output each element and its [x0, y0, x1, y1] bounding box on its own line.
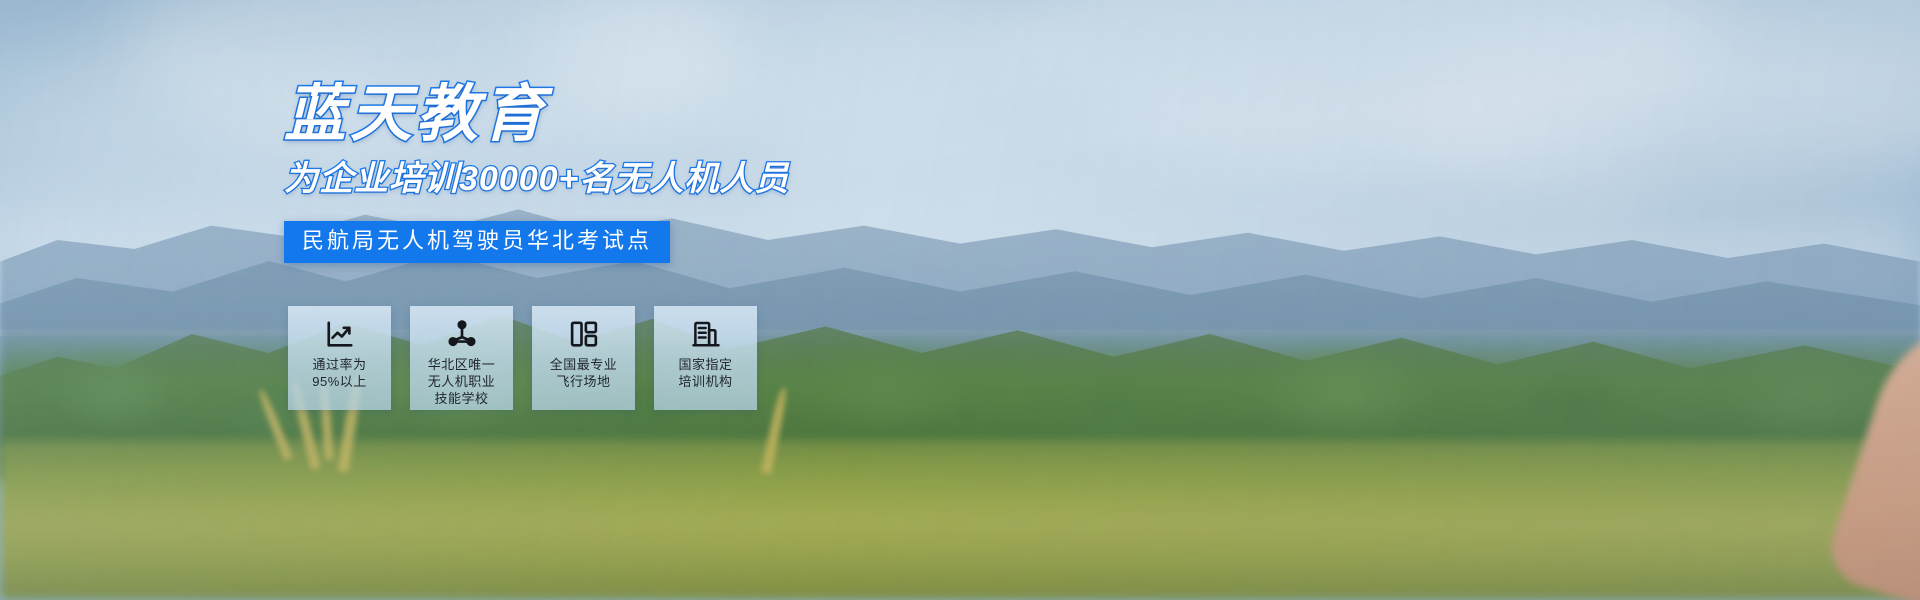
layout-panels-icon — [569, 319, 599, 349]
feature-card-line-1: 通过率为 — [312, 356, 367, 373]
feature-card-text: 国家指定 培训机构 — [678, 356, 732, 390]
feature-card-line-1: 全国最专业 — [550, 356, 618, 373]
certification-badge: 民航局无人机驾驶员华北考试点 — [284, 221, 670, 263]
feature-card-flight-field[interactable]: 全国最专业 飞行场地 — [532, 306, 635, 410]
building-icon — [691, 319, 721, 349]
feature-card-list: 通过率为 95%以上 — [288, 306, 757, 410]
feature-card-vocational-school[interactable]: 华北区唯一 无人机职业 技能学校 — [410, 306, 513, 410]
feature-card-pass-rate[interactable]: 通过率为 95%以上 — [288, 306, 391, 410]
feature-card-line-2: 培训机构 — [678, 373, 732, 390]
feature-card-line-2: 无人机职业 — [428, 373, 496, 390]
banner-subtitle: 为企业培训30000+名无人机人员 — [284, 162, 789, 196]
feature-card-line-1: 国家指定 — [678, 356, 732, 373]
banner-content: 蓝天教育 为企业培训30000+名无人机人员 民航局无人机驾驶员华北考试点 通过… — [0, 0, 1920, 600]
feature-card-line-3: 技能学校 — [428, 390, 496, 407]
feature-card-line-1: 华北区唯一 — [428, 356, 496, 373]
feature-card-line-2: 95%以上 — [312, 373, 367, 390]
feature-card-text: 通过率为 95%以上 — [312, 356, 367, 390]
feature-card-line-2: 飞行场地 — [550, 373, 618, 390]
feature-card-text: 全国最专业 飞行场地 — [550, 356, 618, 390]
network-nodes-icon — [447, 319, 477, 349]
chart-trending-up-icon — [325, 319, 355, 349]
hero-banner: 蓝天教育 为企业培训30000+名无人机人员 民航局无人机驾驶员华北考试点 通过… — [0, 0, 1920, 600]
feature-card-text: 华北区唯一 无人机职业 技能学校 — [428, 356, 496, 407]
banner-title: 蓝天教育 — [284, 84, 548, 146]
feature-card-national-institution[interactable]: 国家指定 培训机构 — [654, 306, 757, 410]
